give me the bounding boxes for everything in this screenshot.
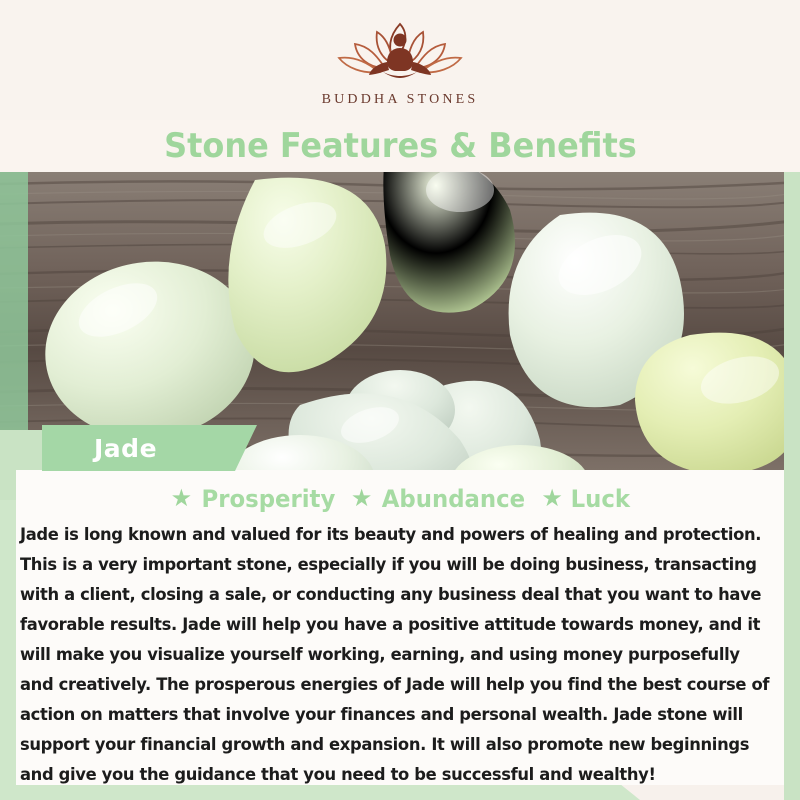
benefit-label: Luck: [570, 485, 629, 513]
stone-name-banner: Jade: [42, 425, 257, 471]
brand-header: BUDDHA STONES: [0, 0, 800, 120]
left-green-band: [0, 170, 28, 470]
lotus-meditation-icon: [325, 18, 475, 88]
star-icon: ★: [351, 487, 373, 511]
page-title: Stone Features & Benefits: [164, 126, 637, 166]
star-icon: ★: [171, 487, 193, 511]
brand-name: BUDDHA STONES: [322, 92, 479, 108]
stone-description: Jade is long known and valued for its be…: [20, 520, 771, 790]
section-title-banner: Stone Features & Benefits: [0, 120, 800, 172]
stone-name-label: Jade: [42, 434, 157, 463]
benefit-item: ★ Abundance: [351, 485, 529, 513]
benefit-item: ★ Luck: [541, 485, 631, 513]
left-green-edge: [0, 500, 16, 800]
benefit-label: Abundance: [382, 485, 525, 513]
benefit-label: Prosperity: [202, 485, 336, 513]
benefits-row: ★ Prosperity ★ Abundance ★ Luck: [16, 482, 786, 516]
benefit-item: ★ Prosperity: [171, 485, 339, 513]
content-panel: ★ Prosperity ★ Abundance ★ Luck Jade is …: [16, 470, 786, 785]
star-icon: ★: [541, 487, 563, 511]
